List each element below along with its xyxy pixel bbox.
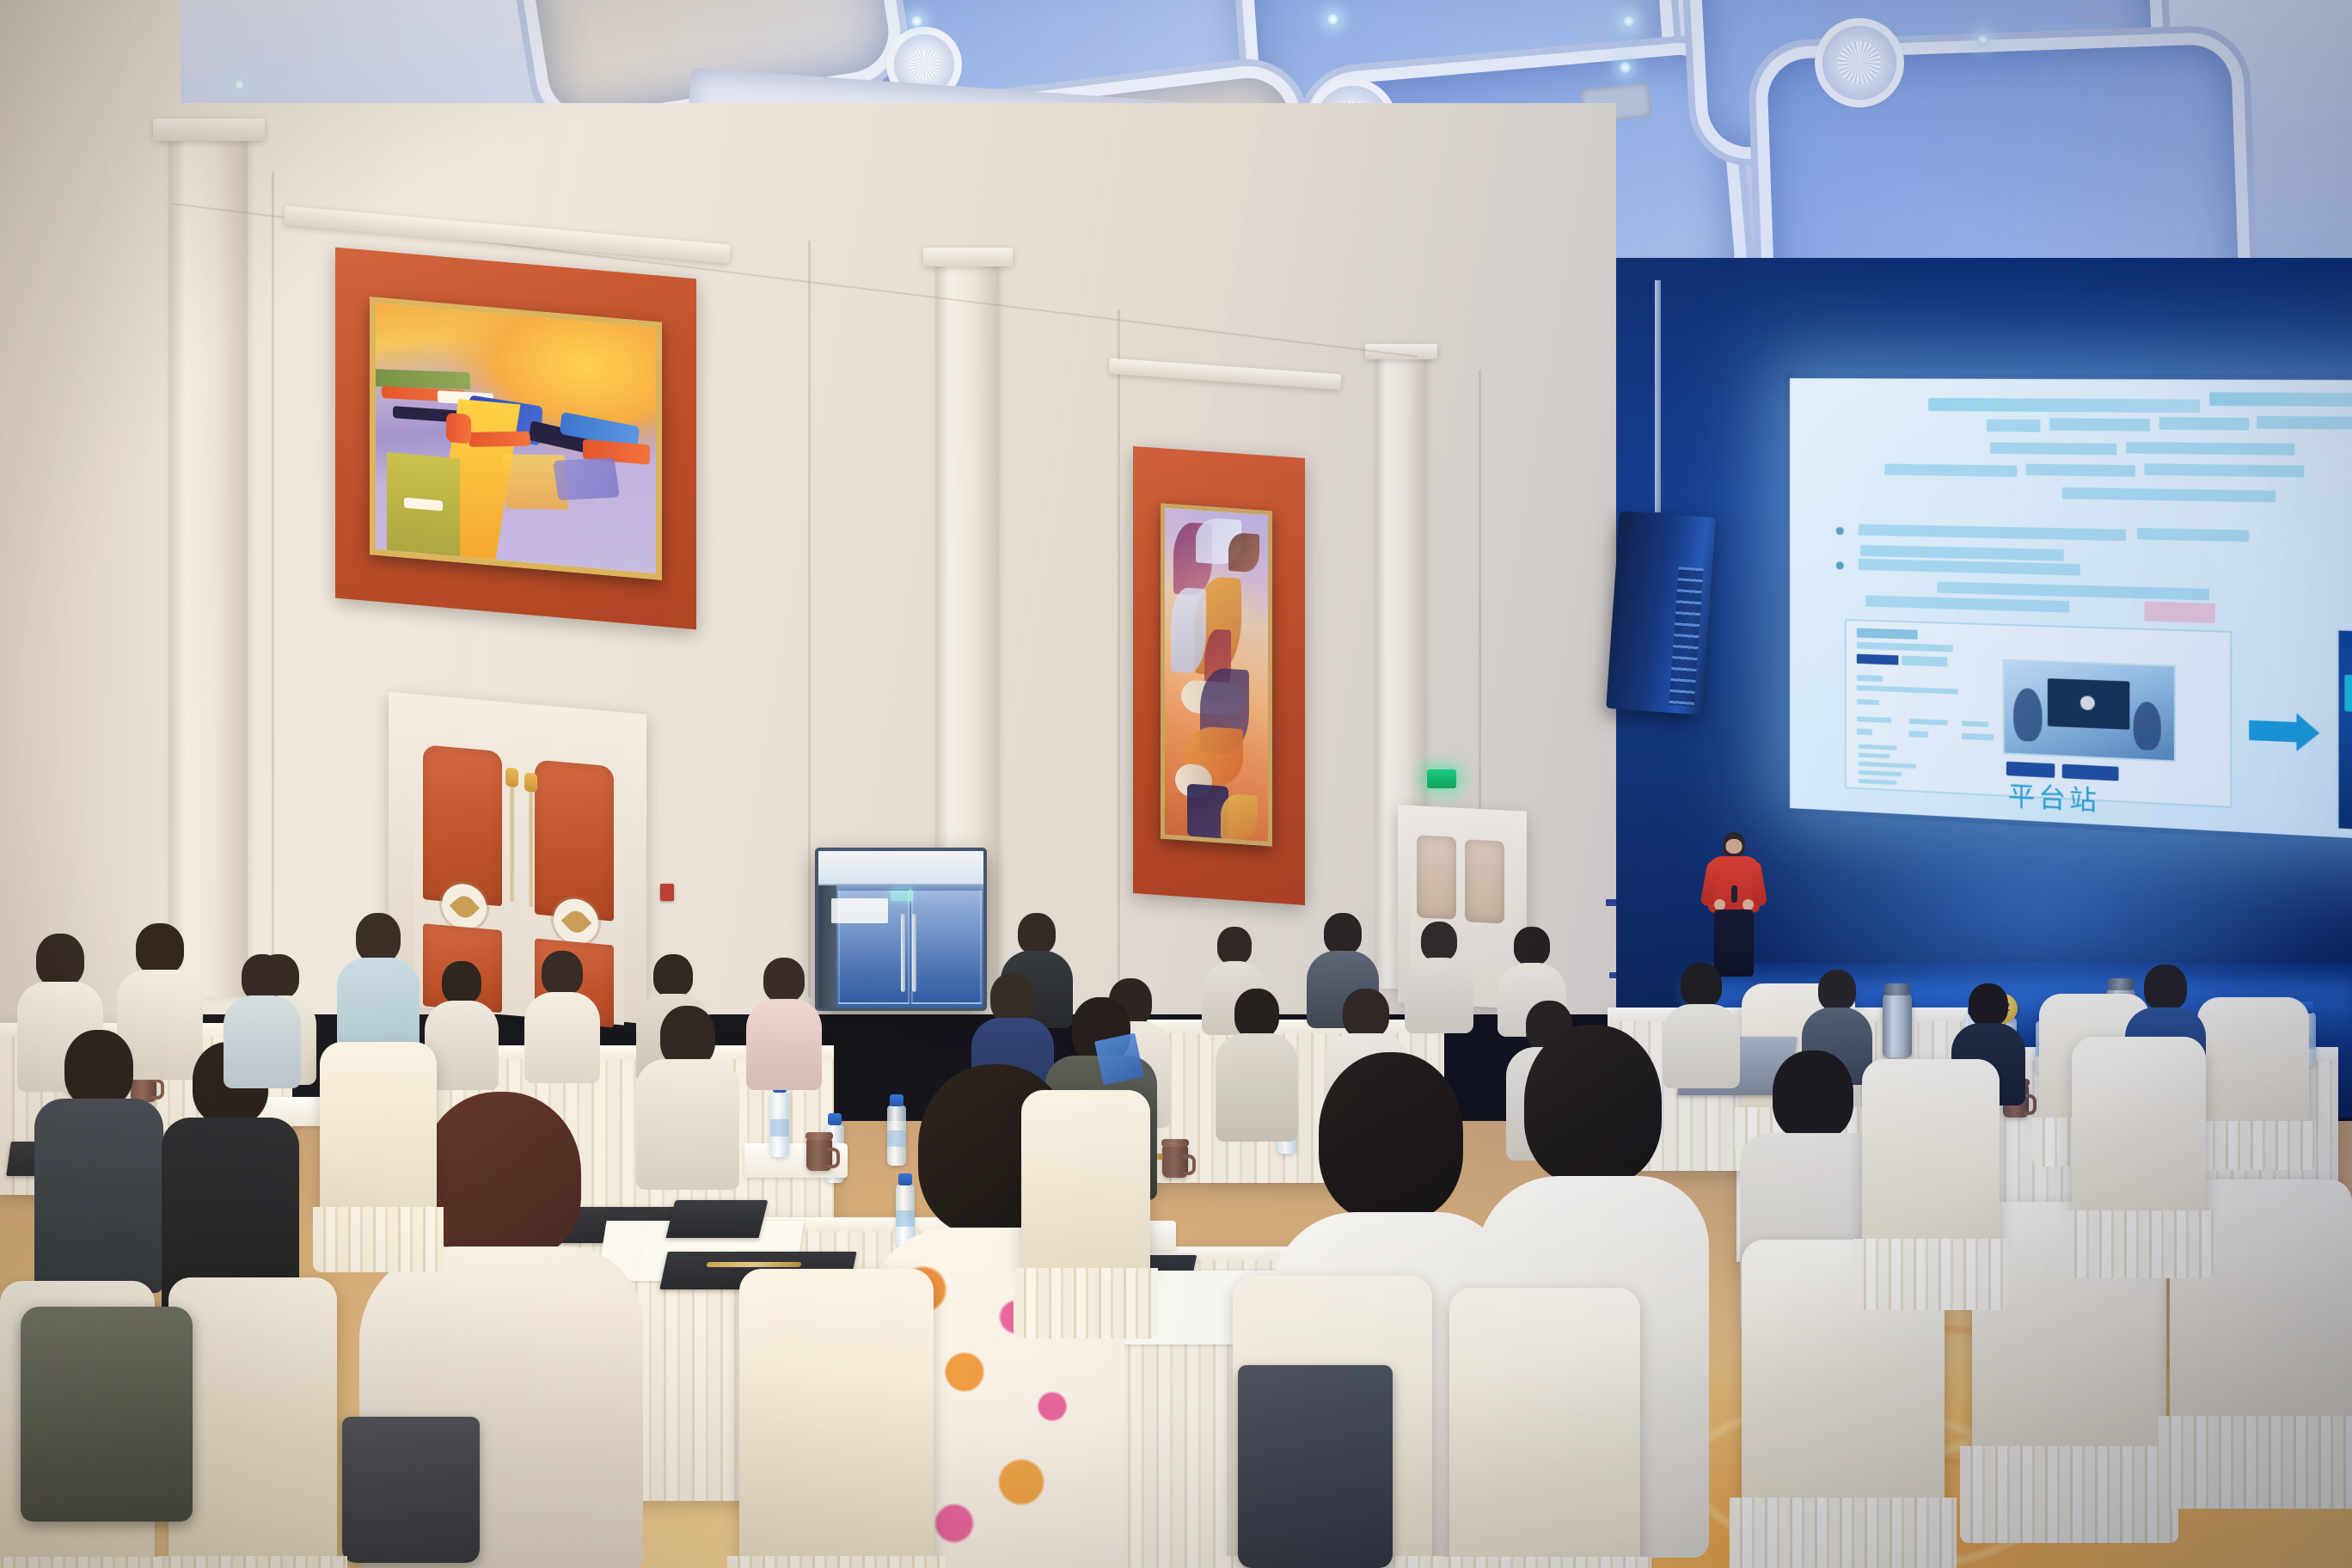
person-head bbox=[1524, 1025, 1662, 1185]
person-head bbox=[1818, 970, 1856, 1011]
person-head bbox=[542, 951, 583, 995]
person-head bbox=[1421, 922, 1457, 961]
person-head bbox=[1319, 1052, 1463, 1221]
person-body bbox=[1405, 958, 1473, 1033]
banquet-chair[interactable] bbox=[1862, 1059, 2000, 1246]
slide-text-block bbox=[2062, 487, 2275, 503]
wall-seam bbox=[808, 241, 811, 997]
person-body bbox=[524, 992, 600, 1083]
ceramic-tea-mug bbox=[806, 1138, 832, 1171]
card-list-item bbox=[1859, 753, 1890, 759]
water-bottle bbox=[770, 1092, 789, 1157]
play-icon bbox=[2080, 695, 2095, 710]
person-head bbox=[421, 1092, 581, 1260]
slide-text-block bbox=[2257, 416, 2352, 430]
audience-member bbox=[636, 1006, 739, 1186]
mobile-app-screenshot bbox=[2337, 628, 2352, 840]
projection-screen: 平台站 bbox=[1790, 378, 2352, 842]
slide-bullet bbox=[1836, 527, 1844, 535]
person-head bbox=[136, 923, 184, 975]
far-door-panel-right bbox=[1465, 839, 1504, 923]
audience-member bbox=[337, 913, 420, 1059]
person-head bbox=[1343, 989, 1389, 1038]
person-head bbox=[1681, 963, 1722, 1008]
person-head bbox=[1514, 927, 1550, 965]
card-list-item bbox=[1859, 762, 1916, 769]
fridge-handle-right[interactable] bbox=[912, 914, 916, 992]
display-refrigerator[interactable] bbox=[815, 848, 987, 1011]
fridge-header bbox=[818, 851, 983, 885]
banquet-chair[interactable] bbox=[320, 1042, 437, 1214]
person-body bbox=[746, 999, 822, 1090]
fire-alarm-box bbox=[660, 884, 674, 901]
person-head bbox=[442, 961, 481, 1004]
person-head bbox=[1217, 927, 1252, 965]
abstract-vertical-painting bbox=[1161, 503, 1272, 846]
downlight bbox=[1977, 34, 1988, 46]
downlight bbox=[911, 15, 922, 27]
person-head bbox=[1969, 983, 2008, 1026]
person-head bbox=[1324, 913, 1362, 954]
audience-member bbox=[1405, 922, 1473, 1030]
door-panel-left bbox=[423, 744, 502, 906]
slide-bullet bbox=[1836, 561, 1844, 569]
slide-text-block bbox=[2137, 528, 2249, 542]
slide-text-block bbox=[1884, 463, 2017, 476]
microphone bbox=[1731, 885, 1737, 903]
card-body-line bbox=[1857, 699, 1879, 705]
card-subline bbox=[1857, 642, 1953, 652]
wall-seam bbox=[272, 172, 274, 997]
person-head bbox=[763, 958, 805, 1002]
person-body bbox=[34, 1099, 163, 1293]
abstract-landscape-painting bbox=[370, 297, 662, 580]
slide-title-line bbox=[2209, 392, 2352, 407]
audience-member bbox=[224, 954, 301, 1083]
person-head bbox=[990, 973, 1035, 1023]
card-body-line bbox=[1857, 675, 1883, 682]
slide-text-block bbox=[1860, 545, 2064, 561]
exit-sign bbox=[1427, 769, 1456, 788]
brush-stroke bbox=[1221, 793, 1258, 841]
person-body bbox=[224, 995, 301, 1088]
banquet-chair[interactable] bbox=[739, 1269, 934, 1568]
person-body bbox=[636, 1059, 739, 1190]
person-head bbox=[1773, 1050, 1853, 1140]
slide-text-block bbox=[2049, 418, 2150, 431]
vacuum-flask bbox=[1883, 994, 1912, 1057]
audience-member bbox=[746, 958, 822, 1088]
person-head bbox=[2144, 965, 2187, 1011]
banquet-chair[interactable] bbox=[2197, 997, 2309, 1126]
wall-seam bbox=[1118, 309, 1120, 997]
pen bbox=[706, 1262, 801, 1267]
downlight bbox=[1623, 15, 1634, 27]
backpack bbox=[21, 1307, 193, 1522]
app-tag bbox=[2344, 675, 2352, 713]
door-handle-left[interactable] bbox=[509, 781, 515, 903]
slide-text-block bbox=[2159, 417, 2249, 431]
slide-caption-cn: 平台站 bbox=[2008, 774, 2100, 818]
person-head bbox=[653, 954, 693, 997]
downlight bbox=[1620, 62, 1631, 73]
wall-pilaster bbox=[168, 129, 248, 997]
fridge-handle-left[interactable] bbox=[901, 914, 905, 992]
slide-text-block bbox=[2145, 463, 2305, 477]
presenter bbox=[1695, 832, 1773, 978]
person-head bbox=[242, 954, 283, 1001]
slide-text-block bbox=[1990, 442, 2116, 455]
person-head bbox=[1018, 913, 1056, 954]
pilaster-capital bbox=[153, 119, 265, 141]
brush-stroke bbox=[1171, 586, 1206, 674]
card-tag bbox=[1857, 654, 1899, 665]
card-tag bbox=[1902, 656, 1947, 667]
person-head bbox=[356, 913, 401, 963]
brush-stroke bbox=[1228, 532, 1259, 573]
card-stat-label bbox=[1962, 720, 1988, 726]
door-handle-right[interactable] bbox=[528, 787, 534, 908]
card-body-line bbox=[1857, 685, 1958, 695]
flow-arrow-icon bbox=[2249, 720, 2298, 743]
audience-member bbox=[524, 951, 600, 1080]
card-list-item bbox=[1859, 744, 1896, 750]
card-stat-value bbox=[1909, 731, 1928, 738]
door-panel-right bbox=[535, 760, 614, 922]
card-photo bbox=[2003, 659, 2177, 763]
banquet-chair[interactable] bbox=[2072, 1037, 2206, 1217]
slide-text-block bbox=[1987, 420, 2041, 432]
card-stat-value bbox=[1857, 728, 1872, 735]
slide-text-block bbox=[2126, 442, 2294, 456]
handbag bbox=[342, 1417, 480, 1563]
card-list-item bbox=[1859, 779, 1896, 785]
card-heading bbox=[1857, 628, 1918, 639]
card-stat-label bbox=[1857, 716, 1891, 723]
fridge-label bbox=[831, 898, 887, 923]
person-head bbox=[36, 934, 84, 987]
ballroom-scene: 平台站 12 bbox=[0, 0, 2352, 1568]
laptop-lid bbox=[666, 1200, 769, 1238]
card-stat-value bbox=[1962, 733, 1994, 741]
card-list-item bbox=[1859, 770, 1902, 777]
pilaster-capital bbox=[923, 248, 1013, 266]
slide-title-line bbox=[1928, 398, 2200, 413]
card-stat-label bbox=[1909, 719, 1948, 726]
audience-member bbox=[34, 1030, 163, 1288]
photo-person bbox=[2134, 701, 2161, 751]
speaker-grill bbox=[1669, 567, 1703, 707]
person-head bbox=[64, 1030, 133, 1107]
slide-highlight-block bbox=[2145, 602, 2215, 623]
slide-text-block bbox=[2026, 464, 2135, 477]
presenter-face bbox=[1726, 839, 1743, 854]
far-door-panel-left bbox=[1417, 835, 1456, 919]
downlight bbox=[234, 79, 245, 90]
speaker-suspension-rod bbox=[1655, 280, 1661, 512]
slide-text-block bbox=[1865, 595, 2069, 612]
handbag bbox=[1238, 1365, 1393, 1568]
ceiling-rosette bbox=[1822, 26, 1896, 100]
banquet-chair[interactable] bbox=[168, 1277, 337, 1568]
person-head bbox=[1234, 989, 1279, 1038]
slide-text-block bbox=[1859, 559, 2080, 576]
slide-text-block bbox=[1859, 524, 2126, 542]
photo-person bbox=[2013, 688, 2042, 742]
banquet-chair[interactable] bbox=[1449, 1288, 1640, 1568]
line-array-speaker bbox=[1606, 511, 1716, 714]
downlight bbox=[1327, 14, 1338, 25]
banquet-chair[interactable] bbox=[1021, 1090, 1150, 1276]
laptop[interactable] bbox=[666, 1200, 769, 1238]
